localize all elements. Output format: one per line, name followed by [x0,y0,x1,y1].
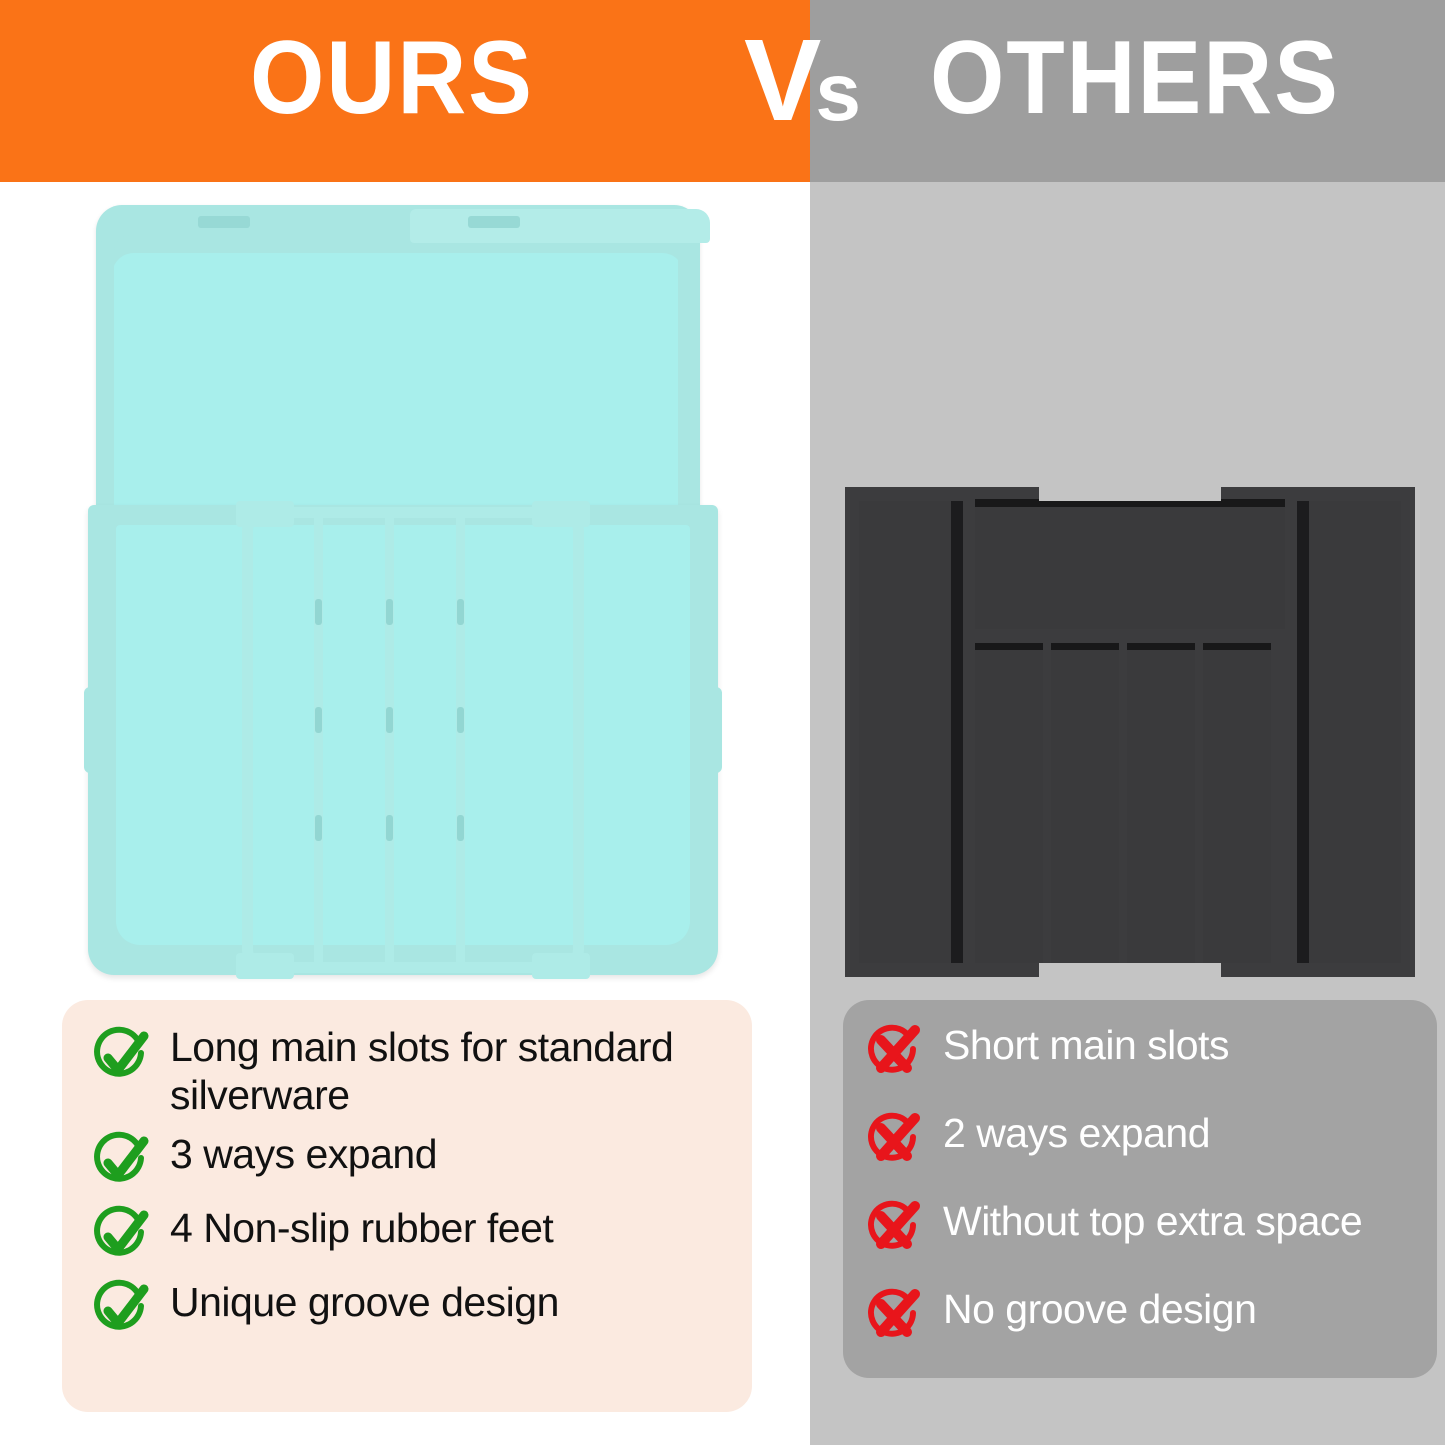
header-vs-s: s [815,47,861,138]
groove-mark [315,599,322,625]
tray-divider-3 [456,513,465,967]
tray-notch-right [468,216,520,228]
header-others-label: OTHERS [930,26,1340,130]
check-circle-icon [90,1026,152,1088]
pros-feature-label: Unique groove design [170,1279,559,1327]
cons-feature-list: Short main slots 2 ways expand [863,1022,1433,1374]
tray-upper-lip [410,209,710,243]
divider-ear-bottom-left [236,953,294,979]
groove-mark [386,599,393,625]
cons-feature-label: 2 ways expand [943,1110,1210,1158]
cross-circle-icon [863,1022,925,1084]
pros-feature-label: Long main slots for standard silverware [170,1024,740,1119]
divider-insert-frame [242,507,584,973]
black-tray-side-channel-left [859,501,951,963]
check-circle-icon [90,1205,152,1267]
tray-expand-tab-left [84,687,108,773]
tray-divider-1 [314,513,323,967]
groove-mark [386,707,393,733]
cross-circle-icon [863,1110,925,1172]
pros-feature-list: Long main slots for standard silverware … [90,1024,740,1353]
cons-feature-item: No groove design [863,1286,1433,1348]
tray-upper-rim [100,221,692,526]
tray-expand-tab-right [698,687,722,773]
header-text-group: OURS Vs OTHERS [0,0,1445,182]
pros-feature-box: Long main slots for standard silverware … [62,1000,752,1412]
header-banner: OURS Vs OTHERS [0,0,1445,182]
groove-mark [457,707,464,733]
groove-mark [457,815,464,841]
header-vs-v: V [744,15,815,145]
black-tray-slot-3 [1127,643,1195,963]
cross-circle-icon [863,1286,925,1348]
pros-feature-item: 4 Non-slip rubber feet [90,1205,740,1267]
ours-product-image [88,205,718,975]
tray-divider-2 [385,513,394,967]
divider-ear-bottom-right [532,953,590,979]
black-tray-side-channel-right [1309,501,1401,963]
cons-feature-label: Without top extra space [943,1198,1362,1246]
others-product-image [845,487,1415,977]
cons-feature-label: No groove design [943,1286,1256,1334]
pros-feature-item: 3 ways expand [90,1131,740,1193]
groove-mark [315,707,322,733]
black-tray-insert [963,487,1297,977]
black-tray-slot-4 [1203,643,1271,963]
pros-feature-label: 3 ways expand [170,1131,437,1179]
tray-notch-left [198,216,250,228]
cons-feature-item: 2 ways expand [863,1110,1433,1172]
groove-mark [457,599,464,625]
cons-feature-item: Without top extra space [863,1198,1433,1260]
cons-feature-box: Short main slots 2 ways expand [843,1000,1437,1378]
black-tray-slot-1 [975,643,1043,963]
groove-mark [315,815,322,841]
pros-feature-item: Long main slots for standard silverware [90,1024,740,1119]
black-tray-slot-2 [1051,643,1119,963]
check-circle-icon [90,1279,152,1341]
header-ours-label: OURS [250,26,534,130]
pros-feature-label: 4 Non-slip rubber feet [170,1205,553,1253]
cons-feature-item: Short main slots [863,1022,1433,1084]
comparison-infographic: OURS Vs OTHERS [0,0,1445,1445]
black-tray-notch-bottom [1039,963,1221,977]
black-tray-notch-top [1039,487,1221,501]
black-tray-top-compartment [975,499,1285,629]
check-circle-icon [90,1131,152,1193]
groove-mark [386,815,393,841]
tray-divider-insert [242,507,584,973]
divider-ear-top-left [236,501,294,527]
divider-ear-top-right [532,501,590,527]
header-vs-label: Vs [744,22,861,138]
cons-feature-label: Short main slots [943,1022,1229,1070]
pros-feature-item: Unique groove design [90,1279,740,1341]
cross-circle-icon [863,1198,925,1260]
